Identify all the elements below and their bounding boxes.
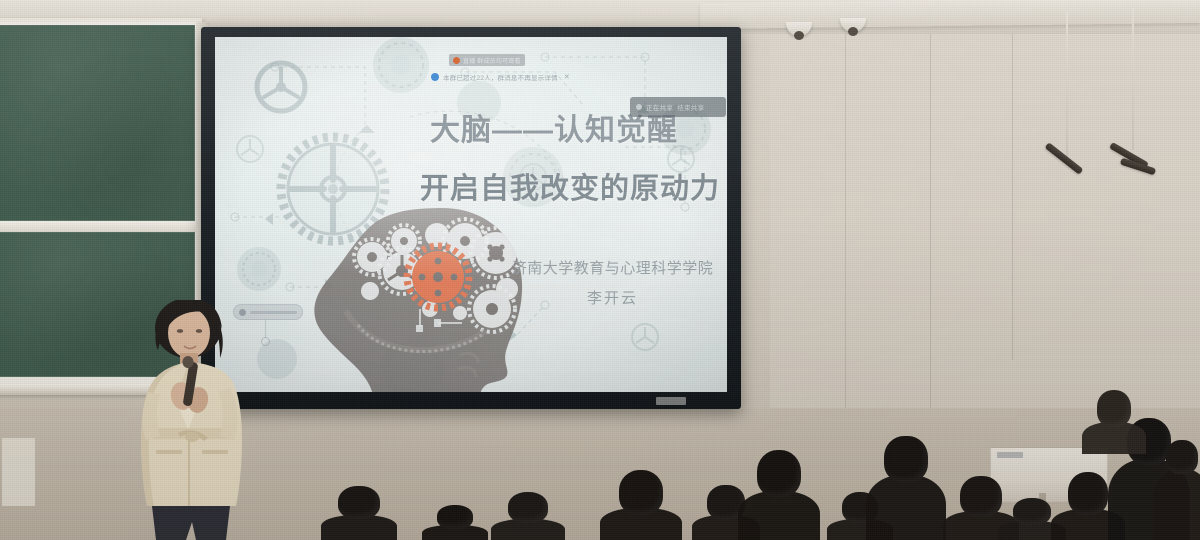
audience-member (1090, 390, 1138, 454)
audience-head (437, 505, 473, 529)
audience-shoulders (866, 475, 945, 540)
wall-seam (845, 30, 846, 420)
dot-icon (636, 104, 642, 110)
group-notice-text: 本群已超过22人，群消息不再显示详情 (443, 72, 558, 82)
audience-member (876, 436, 936, 540)
audience-head (884, 436, 927, 482)
live-notification-pill[interactable]: 直播 群成员均可观看 (449, 54, 525, 66)
wall-panel-right (770, 28, 1200, 418)
brain-head-silhouette (310, 205, 530, 392)
presentation-slide: 大脑——认知觉醒 开启自我改变的原动力 济南大学教育与心理科学学院 李开云 直播… (215, 37, 727, 392)
audience-member (430, 505, 480, 540)
audience-head (757, 450, 802, 497)
audience-shoulders (1153, 469, 1200, 540)
wall-seam (930, 30, 931, 420)
lecture-hall-photo: 大脑——认知觉醒 开启自我改变的原动力 济南大学教育与心理科学学院 李开云 直播… (0, 0, 1200, 540)
end-share-button[interactable]: 结束共享 (677, 102, 704, 112)
audience-head (338, 486, 380, 519)
chalkboard-panel-upper (0, 25, 195, 221)
audience-member (500, 492, 556, 540)
audience-member (1160, 440, 1200, 540)
audience-shoulders (738, 491, 820, 540)
audience-head (960, 476, 1002, 517)
wall-seam (1012, 30, 1013, 360)
audience-head (1068, 472, 1108, 515)
slide-subtitle: 开启自我改变的原动力 (420, 165, 720, 207)
audience-member (748, 450, 810, 540)
audience-head (619, 470, 664, 515)
wall-notice-sheet (2, 438, 35, 506)
audience-head (508, 492, 548, 523)
slide-affiliation: 济南大学教育与心理科学学院 (505, 257, 720, 278)
audience-member (610, 470, 672, 540)
radiator-label (997, 452, 1023, 458)
smart-display[interactable]: 大脑——认知觉醒 开启自我改变的原动力 济南大学教育与心理科学学院 李开云 直播… (201, 27, 741, 409)
close-icon[interactable]: ✕ (564, 73, 570, 81)
hanging-rod (1132, 8, 1134, 150)
display-brand-logo (656, 397, 686, 405)
audience-head (1013, 498, 1050, 525)
group-notice-row[interactable]: 本群已超过22人，群消息不再显示详情 ✕ (431, 71, 570, 82)
audience-member (330, 486, 388, 540)
info-icon (431, 73, 439, 81)
screen-share-toolbar[interactable]: 正在共享 结束共享 (630, 97, 726, 117)
audience-head (1097, 390, 1132, 427)
live-notification-text: 直播 群成员均可观看 (463, 56, 521, 65)
slide-author: 李开云 (505, 287, 720, 308)
share-status-label: 正在共享 (646, 102, 673, 112)
chalkboard-divider (0, 221, 198, 232)
hanging-rod (1066, 12, 1068, 160)
presenter (118, 300, 268, 540)
bell-icon (453, 57, 460, 64)
audience-head (1166, 440, 1198, 474)
